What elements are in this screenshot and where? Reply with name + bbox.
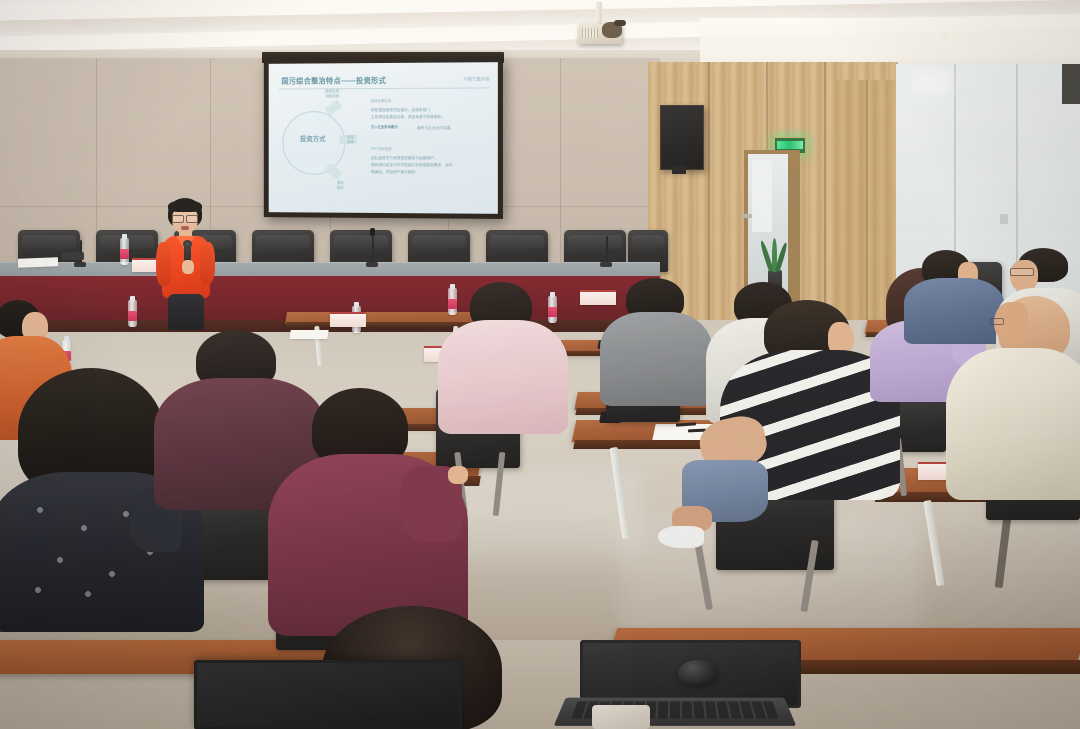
notebook [18, 257, 58, 267]
laptop-head-table[interactable] [62, 252, 84, 260]
slide-callout-2: 社会 资本 [347, 135, 369, 145]
presenter-fringe [168, 200, 202, 212]
microphone-head-icon [183, 240, 192, 248]
wall-speaker [660, 105, 704, 170]
glasses-icon [1010, 268, 1034, 276]
presenter-mouth [181, 226, 189, 230]
slide-block-3-text: 由社会资本方承担投资建设与运营维护， 政府按约定支付可行性缺口补助或服务费用，合… [371, 155, 490, 176]
attendee-grey-tshirt [600, 278, 712, 404]
slide-title: 国污综合整治特点——投资形式 [281, 76, 386, 87]
hand [448, 466, 468, 484]
slide-block-1-text: 财政直接投资项目建设，由政府部门 主导项目实施全过程，资金来源于财政拨款。 [371, 107, 488, 121]
presentation-slide: 国污综合整治特点——投资形式 中国节能环保 投资方式 政府出资/ 财政投资 社会… [269, 62, 498, 214]
laptop-screen [194, 660, 462, 729]
presenter-left-arm [156, 242, 171, 286]
presenter-hand [182, 260, 194, 274]
slide-block-2-lead: 引入社会资本模式： [371, 125, 401, 130]
laptop[interactable] [180, 660, 480, 729]
conference-room-photo: 国污综合整治特点——投资形式 中国节能环保 投资方式 政府出资/ 财政投资 社会… [0, 0, 1080, 729]
name-card [330, 312, 366, 327]
projection-screen: 国污综合整治特点——投资形式 中国节能环保 投资方式 政府出资/ 财政投资 社会… [264, 57, 503, 219]
door-handle[interactable] [742, 214, 752, 218]
shoe [658, 526, 704, 548]
computer-mouse[interactable] [678, 660, 718, 686]
glasses-icon [172, 215, 198, 221]
slide-tab-1 [324, 99, 342, 116]
attendee-pink-shirt [440, 282, 566, 432]
glasses-icon [990, 318, 1004, 325]
slide-circle-label: 投资方式 [282, 133, 343, 143]
slide-block-1-lead: 政府全额出资： [371, 99, 394, 104]
slide-tab-3 [324, 163, 342, 180]
laptop-keyboard[interactable] [554, 698, 797, 726]
speaker-mount [672, 166, 686, 174]
projector-vent-icon [582, 28, 598, 38]
presenter-skirt [168, 294, 204, 330]
presenter [152, 198, 222, 338]
slide-callout-1: 政府出资/ 财政投资 [316, 89, 350, 99]
water-bottle[interactable] [120, 238, 129, 265]
document-foreground [592, 705, 650, 729]
attendee-burgundy-note [272, 388, 464, 636]
attendee-cream-polo [950, 296, 1080, 496]
corridor-wall [752, 160, 772, 232]
slide-logo: 中国节能环保 [464, 76, 490, 82]
slide-block-2-text: 政府与企业合作共建。 [417, 125, 490, 132]
slide-callout-3: 混合 模式 [327, 181, 353, 191]
slide-block-3-lead: PPP/特许经营： [371, 147, 395, 152]
partition-top-dark-panel [1062, 64, 1080, 104]
ceiling-projector [574, 2, 626, 48]
water-bottle[interactable] [128, 300, 137, 327]
presenter-right-arm [200, 242, 215, 284]
slide-title-rule [278, 87, 489, 89]
